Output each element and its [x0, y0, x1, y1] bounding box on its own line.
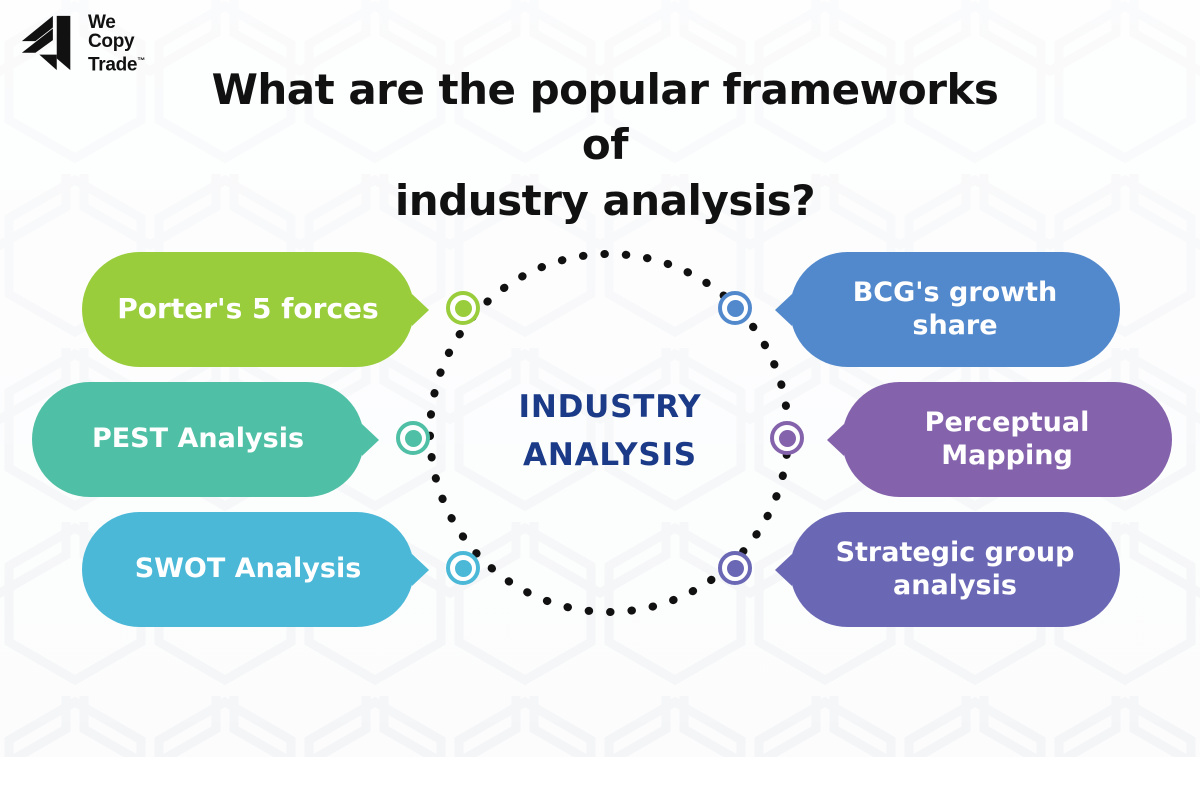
wecopytrade-arrow-logo-icon [18, 12, 80, 74]
brand-name: We Copy Trade™ [88, 13, 145, 74]
node-marker-pest-analysis[interactable] [396, 421, 430, 455]
node-marker-swot-analysis[interactable] [446, 551, 480, 585]
framework-pill-swot-analysis[interactable]: SWOT Analysis [82, 512, 414, 627]
brand-logo[interactable]: We Copy Trade™ [18, 12, 145, 74]
pill-tail [775, 294, 792, 326]
page-title-line-1: What are the popular frameworks of [190, 62, 1020, 173]
trademark-symbol: ™ [137, 56, 145, 65]
node-marker-bcg-growth-share[interactable] [718, 291, 752, 325]
infographic-canvas: We Copy Trade™ What are the popular fram… [0, 0, 1200, 800]
bottom-white-band [0, 757, 1200, 800]
node-inner-dot [727, 300, 744, 317]
pill-tail [362, 424, 379, 456]
page-title-line-2: industry analysis? [190, 173, 1020, 228]
pill-tail [775, 554, 792, 586]
node-marker-perceptual-mapping[interactable] [770, 421, 804, 455]
framework-pill-bcg-growth-share[interactable]: BCG's growth share [790, 252, 1120, 367]
node-inner-dot [455, 560, 472, 577]
framework-pill-perceptual-mapping[interactable]: Perceptual Mapping [842, 382, 1172, 497]
pill-tail [827, 424, 844, 456]
framework-label: Porter's 5 forces [117, 292, 378, 326]
center-label-line-1: INDUSTRY [440, 383, 780, 431]
center-label-line-2: ANALYSIS [440, 431, 780, 479]
pill-tail [412, 554, 429, 586]
page-title: What are the popular frameworks of indus… [190, 62, 1020, 228]
framework-label: SWOT Analysis [135, 553, 362, 586]
brand-name-text: We Copy Trade [88, 12, 137, 75]
framework-pill-strategic-group-analysis[interactable]: Strategic group analysis [790, 512, 1120, 627]
node-marker-strategic-group-analysis[interactable] [718, 551, 752, 585]
framework-label: BCG's growth share [853, 277, 1058, 343]
framework-label: PEST Analysis [92, 423, 304, 456]
framework-pill-porters-5-forces[interactable]: Porter's 5 forces [82, 252, 414, 367]
framework-label: Perceptual Mapping [925, 407, 1090, 473]
framework-label: Strategic group analysis [836, 537, 1075, 603]
framework-pill-pest-analysis[interactable]: PEST Analysis [32, 382, 364, 497]
pill-tail [412, 294, 429, 326]
node-inner-dot [405, 430, 422, 447]
node-inner-dot [455, 300, 472, 317]
center-label: INDUSTRY ANALYSIS [440, 383, 780, 479]
node-inner-dot [779, 430, 796, 447]
node-marker-porters-5-forces[interactable] [446, 291, 480, 325]
node-inner-dot [727, 560, 744, 577]
